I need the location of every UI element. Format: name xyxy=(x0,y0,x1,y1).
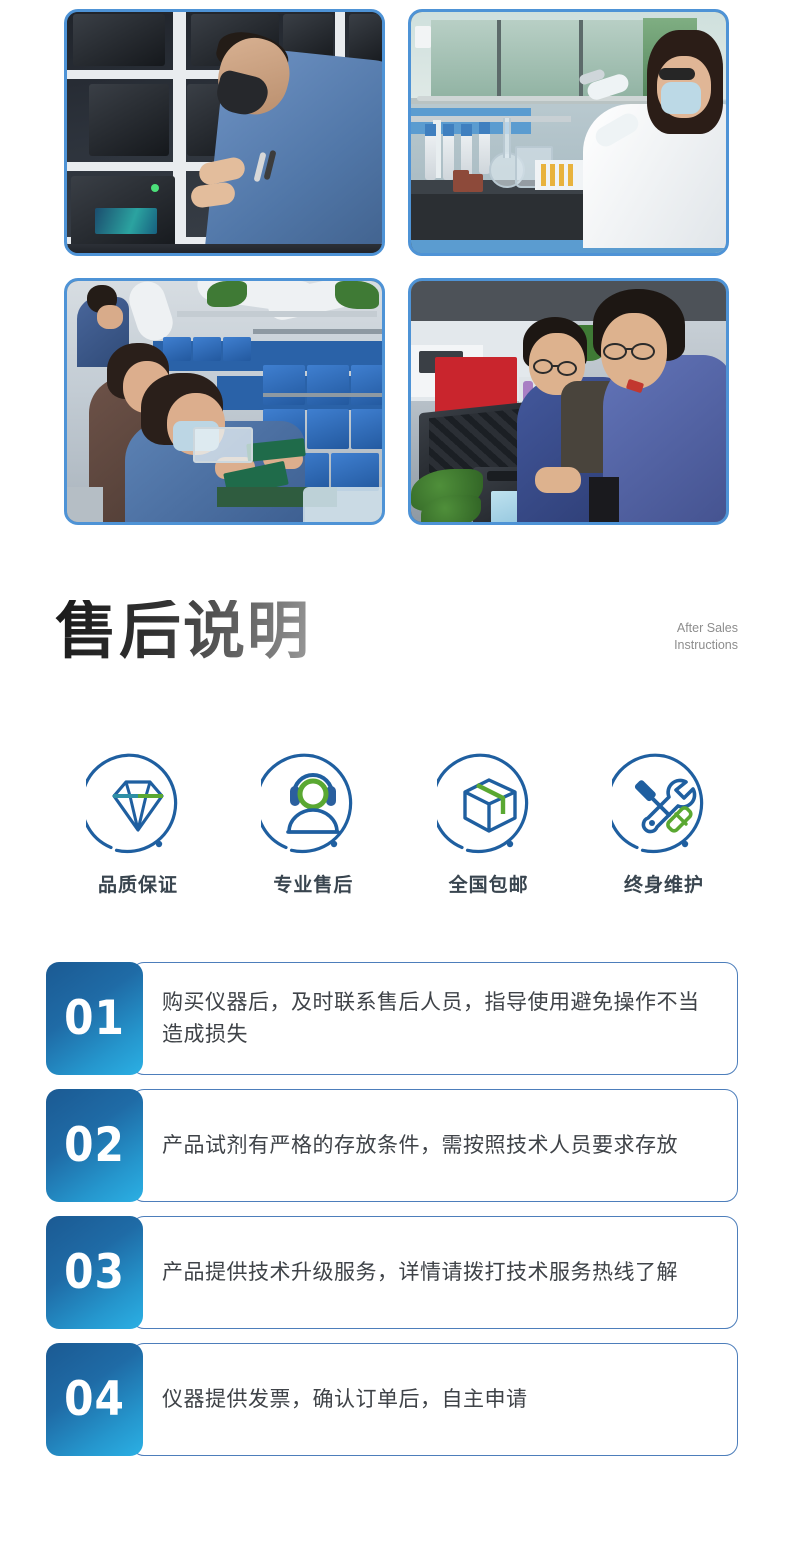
card-body: 仪器提供发票，确认订单后，自主申请 xyxy=(131,1343,738,1456)
section-heading: 售后说明 After Sales Instructions xyxy=(0,600,800,662)
instruction-card[interactable]: 04 仪器提供发票，确认订单后，自主申请 xyxy=(46,1343,738,1456)
feature-lifetime-maintenance[interactable]: 终身维护 xyxy=(590,752,738,897)
card-number-badge: 01 xyxy=(46,962,143,1075)
photo-engineers-inspecting-device xyxy=(408,278,729,525)
card-text: 产品提供技术升级服务，详情请拨打技术服务热线了解 xyxy=(162,1257,678,1288)
photo-scene xyxy=(411,281,726,522)
photo-scene xyxy=(411,12,726,253)
feature-list: 品质保证 专业售后 全国包邮 xyxy=(0,752,800,897)
instruction-card[interactable]: 01 购买仪器后，及时联系售后人员，指导使用避免操作不当造成损失 xyxy=(46,962,738,1075)
headset-support-icon xyxy=(261,752,365,856)
feature-quality-guarantee[interactable]: 品质保证 xyxy=(64,752,212,897)
card-text: 购买仪器后，及时联系售后人员，指导使用避免操作不当造成损失 xyxy=(162,987,717,1049)
feature-label: 终身维护 xyxy=(590,870,738,897)
diamond-icon xyxy=(86,752,190,856)
instruction-card[interactable]: 03 产品提供技术升级服务，详情请拨打技术服务热线了解 xyxy=(46,1216,738,1329)
package-box-icon xyxy=(437,752,541,856)
feature-label: 品质保证 xyxy=(64,870,212,897)
feature-free-shipping[interactable]: 全国包邮 xyxy=(415,752,563,897)
card-number-badge: 03 xyxy=(46,1216,143,1329)
card-body: 购买仪器后，及时联系售后人员，指导使用避免操作不当造成损失 xyxy=(131,962,738,1075)
card-text: 产品试剂有严格的存放条件，需按照技术人员要求存放 xyxy=(162,1130,678,1161)
page-subtitle: After Sales Instructions xyxy=(674,620,738,654)
page-title: 售后说明 xyxy=(55,600,311,662)
photo-assembly-line-workers xyxy=(64,278,385,525)
feature-label: 专业售后 xyxy=(239,870,387,897)
feature-professional-service[interactable]: 专业售后 xyxy=(239,752,387,897)
photo-warehouse-instrument-shelves xyxy=(64,9,385,256)
photo-grid xyxy=(0,0,800,525)
feature-label: 全国包邮 xyxy=(415,870,563,897)
card-text: 仪器提供发票，确认订单后，自主申请 xyxy=(162,1384,528,1415)
instruction-card-list: 01 购买仪器后，及时联系售后人员，指导使用避免操作不当造成损失 02 产品试剂… xyxy=(0,962,800,1456)
photo-scene xyxy=(67,281,382,522)
photo-scene xyxy=(67,12,382,253)
card-body: 产品提供技术升级服务，详情请拨打技术服务热线了解 xyxy=(131,1216,738,1329)
instruction-card[interactable]: 02 产品试剂有严格的存放条件，需按照技术人员要求存放 xyxy=(46,1089,738,1202)
wrench-screwdriver-icon xyxy=(612,752,716,856)
card-number-badge: 02 xyxy=(46,1089,143,1202)
card-number-badge: 04 xyxy=(46,1343,143,1456)
card-body: 产品试剂有严格的存放条件，需按照技术人员要求存放 xyxy=(131,1089,738,1202)
photo-laboratory-technician xyxy=(408,9,729,256)
